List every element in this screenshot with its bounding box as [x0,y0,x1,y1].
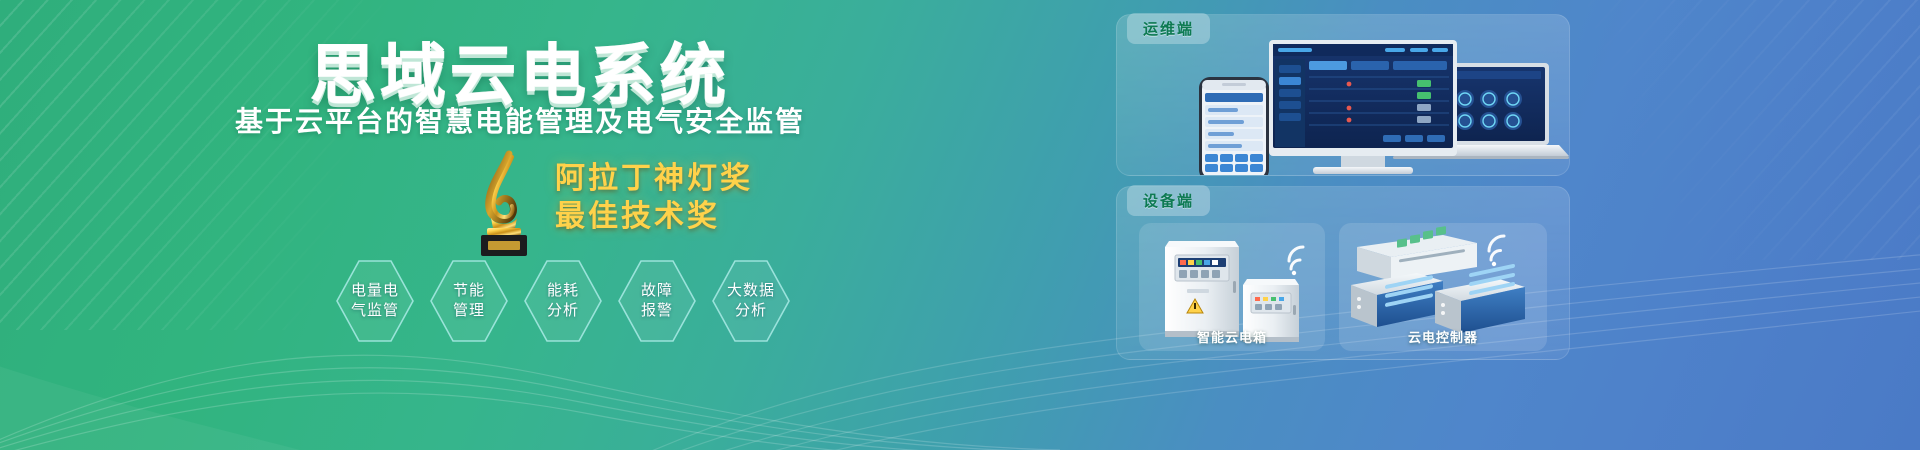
wifi-signal-icon [1489,236,1504,266]
feature-hex-1-label: 电量电 气监管 [351,281,399,321]
feature-hex-5-line1: 大数据 [727,281,775,301]
banner-right-column: 运维端 [1116,14,1876,434]
controller-unit-right [1435,264,1525,333]
feature-hex-2-line2: 管理 [453,301,485,321]
banner-left-column: 思域云电系统 基于云平台的智慧电能管理及电气安全监管 [0,0,1040,450]
award-text-group: 阿拉丁神灯奖 最佳技术奖 [555,160,753,237]
feature-hex-1-line2: 气监管 [351,301,399,321]
panel-equipment: 设备端 [1116,186,1570,360]
feature-hex-1-line1: 电量电 [351,281,399,301]
feature-hex-2-line1: 节能 [453,281,485,301]
desktop-monitor-device [1269,40,1457,174]
feature-hex-5-label: 大数据 分析 [727,281,775,321]
device-caption-controller: 云电控制器 [1339,327,1547,346]
page-subtitle: 基于云平台的智慧电能管理及电气安全监管 [0,100,1040,140]
feature-hex-3-line2: 分析 [547,301,579,321]
device-group-cabinet: 智能云电箱 [1139,223,1325,351]
award-line-1: 阿拉丁神灯奖 [555,160,753,198]
feature-hex-3[interactable]: 能耗 分析 [523,258,603,344]
feature-hex-1[interactable]: 电量电 气监管 [335,258,415,344]
operations-devices-illustration [1117,15,1569,175]
controller-unit-left [1351,273,1443,327]
feature-hex-4-line2: 报警 [641,301,673,321]
trophy-icon [465,148,543,258]
promo-banner: 思域云电系统 基于云平台的智慧电能管理及电气安全监管 [0,0,1920,450]
device-caption-cabinet: 智能云电箱 [1139,327,1325,346]
feature-hex-4[interactable]: 故障 报警 [617,258,697,344]
feature-hex-3-line1: 能耗 [547,281,579,301]
smartphone-device [1199,77,1269,175]
device-group-controller: 云电控制器 [1339,223,1547,351]
tall-cabinet [1165,241,1239,337]
wifi-signal-icon [1289,247,1303,275]
award-block: 阿拉丁神灯奖 最佳技术奖 [430,148,850,258]
feature-hex-4-line1: 故障 [641,281,673,301]
feature-hex-4-label: 故障 报警 [641,281,673,321]
feature-hex-row: 电量电 气监管 节能 管理 能耗 分析 [335,258,791,344]
award-line-2: 最佳技术奖 [555,198,753,236]
panel-equipment-tag: 设备端 [1127,185,1210,216]
feature-hex-5-line2: 分析 [727,301,775,321]
feature-hex-5[interactable]: 大数据 分析 [711,258,791,344]
panel-operations: 运维端 [1116,14,1570,176]
controller-unit-back [1357,226,1477,281]
feature-hex-2[interactable]: 节能 管理 [429,258,509,344]
feature-hex-3-label: 能耗 分析 [547,281,579,321]
feature-hex-2-label: 节能 管理 [453,281,485,321]
